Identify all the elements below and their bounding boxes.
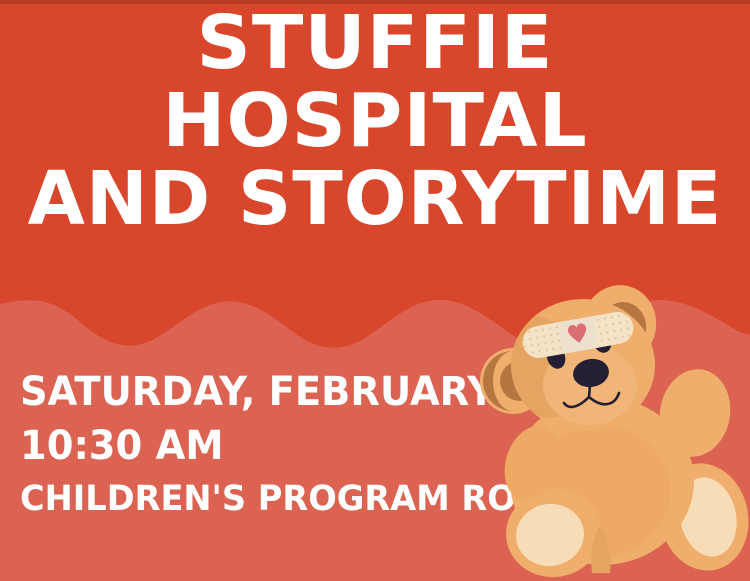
teddy-bear-illustration <box>450 285 750 581</box>
top-edge-strip <box>0 0 750 4</box>
poster-title: STUFFIE HOSPITAL AND STORYTIME <box>0 8 750 235</box>
title-line-2: HOSPITAL <box>0 86 750 158</box>
teddy-bear-svg <box>450 285 750 581</box>
title-line-3: AND STORYTIME <box>0 164 750 236</box>
event-poster: STUFFIE HOSPITAL AND STORYTIME SATURDAY,… <box>0 0 750 581</box>
bear-mouth-stem <box>589 385 590 397</box>
title-line-1: STUFFIE <box>0 8 750 80</box>
